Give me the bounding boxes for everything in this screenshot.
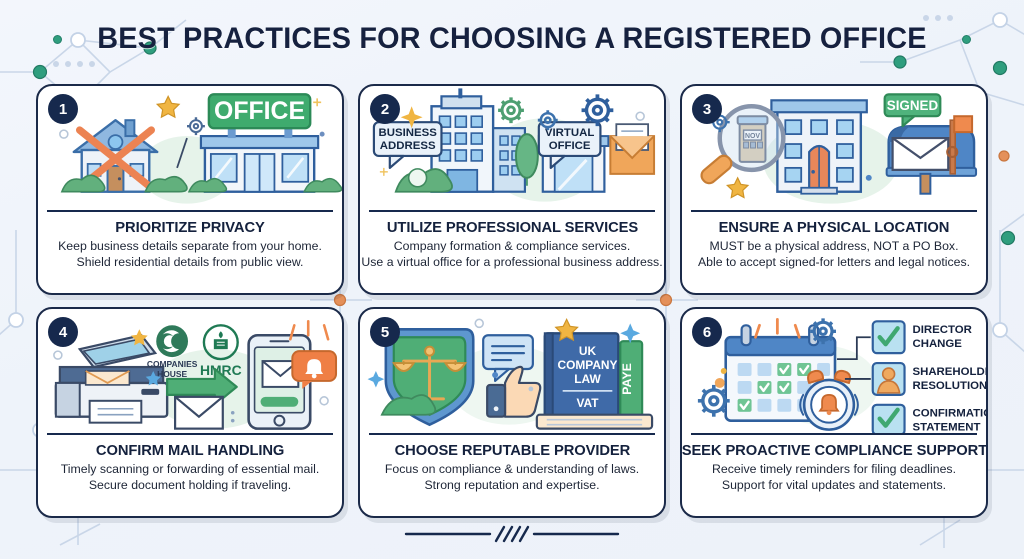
star-icon (157, 96, 179, 117)
card-confirm-mail-handling[interactable]: 4 (36, 307, 344, 518)
checklist-item-shareholder-resolution: SHAREHOLDER RESOLUTION (873, 363, 986, 395)
svg-text:PAYE: PAYE (620, 363, 634, 395)
sparkle-icon (368, 371, 385, 387)
svg-text:RESOLUTION: RESOLUTION (912, 380, 986, 392)
card-title: ENSURE A PHYSICAL LOCATION (719, 219, 950, 236)
card-illustration-professional-services: BUSINESS ADDRESS VIRTUAL OFFICE (360, 86, 664, 212)
svg-text:UK: UK (579, 344, 597, 358)
footer-divider (0, 523, 1024, 545)
card-title: CONFIRM MAIL HANDLING (96, 442, 284, 459)
card-number-badge: 5 (370, 317, 400, 347)
svg-text:COMPANIES: COMPANIES (147, 359, 198, 369)
infographic-page: BEST PRACTICES FOR CHOOSING A REGISTERED… (0, 0, 1024, 559)
art-baseline (369, 210, 655, 212)
card-title: PRIORITIZE PRIVACY (115, 219, 264, 236)
svg-text:CHANGE: CHANGE (912, 338, 962, 350)
card-illustration-mail-handling: COMPANIES HOUSE HMRC (38, 309, 342, 435)
card-seek-proactive-compliance-support[interactable]: 6 (680, 307, 988, 518)
card-number-badge: 6 (692, 317, 722, 347)
svg-text:VIRTUAL: VIRTUAL (545, 127, 594, 139)
card-line: Support for vital updates and statements… (712, 477, 956, 493)
card-line: Use a virtual office for a professional … (361, 254, 662, 270)
svg-text:COMPANY: COMPANY (558, 358, 618, 372)
card-number-badge: 2 (370, 94, 400, 124)
svg-text:BUSINESS: BUSINESS (379, 127, 438, 139)
star-icon (727, 178, 748, 198)
checklist-item-confirmation-statement: CONFIRMATION STATEMENT (873, 405, 986, 435)
art-baseline (47, 433, 333, 435)
art-baseline (691, 210, 977, 212)
sparkle-icon (313, 98, 321, 106)
footer-divider-ornament (402, 523, 622, 545)
svg-text:SIGNED: SIGNED (887, 98, 939, 113)
card-number-badge: 3 (692, 94, 722, 124)
gear-icon (498, 97, 524, 123)
card-line: Secure document holding if traveling. (61, 477, 320, 493)
svg-text:SHAREHOLDER: SHAREHOLDER (912, 366, 986, 378)
svg-text:DIRECTOR: DIRECTOR (912, 324, 971, 336)
card-caption: CHOOSE REPUTABLE PROVIDER Focus on compl… (360, 435, 664, 516)
card-number-badge: 1 (48, 94, 78, 124)
card-title: SEEK PROACTIVE COMPLIANCE SUPPORT (681, 442, 986, 459)
card-caption: UTILIZE PROFESSIONAL SERVICES Company fo… (360, 212, 664, 293)
card-caption: PRIORITIZE PRIVACY Keep business details… (38, 212, 342, 293)
svg-text:ADDRESS: ADDRESS (380, 140, 436, 152)
card-number-badge: 4 (48, 317, 78, 347)
card-description: MUST be a physical address, NOT a PO Box… (698, 238, 970, 271)
gear-icon (187, 117, 205, 135)
envelope-icon (175, 397, 223, 429)
sparkle-icon (380, 168, 388, 176)
card-description: Keep business details separate from your… (58, 238, 322, 271)
svg-text:LAW: LAW (574, 372, 601, 386)
card-line: Able to accept signed-for letters and le… (698, 254, 970, 270)
card-caption: SEEK PROACTIVE COMPLIANCE SUPPORT Receiv… (682, 435, 986, 516)
card-line: Focus on compliance & understanding of l… (385, 461, 639, 477)
art-baseline (691, 433, 977, 435)
cards-grid: 1 (36, 84, 988, 518)
card-title: UTILIZE PROFESSIONAL SERVICES (386, 219, 637, 236)
card-illustration-compliance-support: DIRECTOR CHANGE SHAREHOLDER RESOLUTION C… (682, 309, 986, 435)
card-line: Receive timely reminders for filing dead… (712, 461, 956, 477)
card-line: Strong reputation and expertise. (385, 477, 639, 493)
card-illustration-reputable-provider: UK COMPANY LAW VAT PAYE (360, 309, 664, 435)
card-utilize-professional-services[interactable]: 2 (358, 84, 666, 295)
svg-text:STATEMENT: STATEMENT (912, 422, 980, 434)
card-choose-reputable-provider[interactable]: 5 (358, 307, 666, 518)
checklist-item-director-change: DIRECTOR CHANGE (873, 321, 972, 353)
card-line: MUST be a physical address, NOT a PO Box… (698, 238, 970, 254)
office-sign-label: OFFICE (214, 98, 305, 125)
card-line: Company formation & compliance services. (361, 238, 662, 254)
card-line: Keep business details separate from your… (58, 238, 322, 254)
card-ensure-physical-location[interactable]: 3 (680, 84, 988, 295)
card-caption: CONFIRM MAIL HANDLING Timely scanning or… (38, 435, 342, 516)
art-baseline (369, 433, 655, 435)
page-title-row: BEST PRACTICES FOR CHOOSING A REGISTERED… (0, 22, 1024, 56)
art-baseline (47, 210, 333, 212)
signed-tag: SIGNED (885, 94, 941, 126)
card-title: CHOOSE REPUTABLE PROVIDER (394, 442, 629, 459)
svg-text:VAT: VAT (576, 396, 599, 410)
envelope-icon (610, 124, 654, 174)
title-left-dot (53, 35, 62, 44)
svg-text:HOUSE: HOUSE (157, 369, 187, 379)
svg-text:OFFICE: OFFICE (549, 140, 591, 152)
title-right-dot (962, 35, 971, 44)
card-illustration-physical-location: NOV (682, 86, 986, 212)
card-caption: ENSURE A PHYSICAL LOCATION MUST be a phy… (682, 212, 986, 293)
page-title: BEST PRACTICES FOR CHOOSING A REGISTERED… (97, 22, 926, 56)
card-description: Company formation & compliance services.… (361, 238, 662, 271)
card-description: Receive timely reminders for filing dead… (712, 461, 956, 494)
card-description: Timely scanning or forwarding of essenti… (61, 461, 320, 494)
card-illustration-privacy: OFFICE (38, 86, 342, 212)
svg-text:CONFIRMATION: CONFIRMATION (912, 408, 986, 420)
card-description: Focus on compliance & understanding of l… (385, 461, 639, 494)
card-line: Timely scanning or forwarding of essenti… (61, 461, 320, 477)
card-prioritize-privacy[interactable]: 1 (36, 84, 344, 295)
card-line: Shield residential details from public v… (58, 254, 322, 270)
